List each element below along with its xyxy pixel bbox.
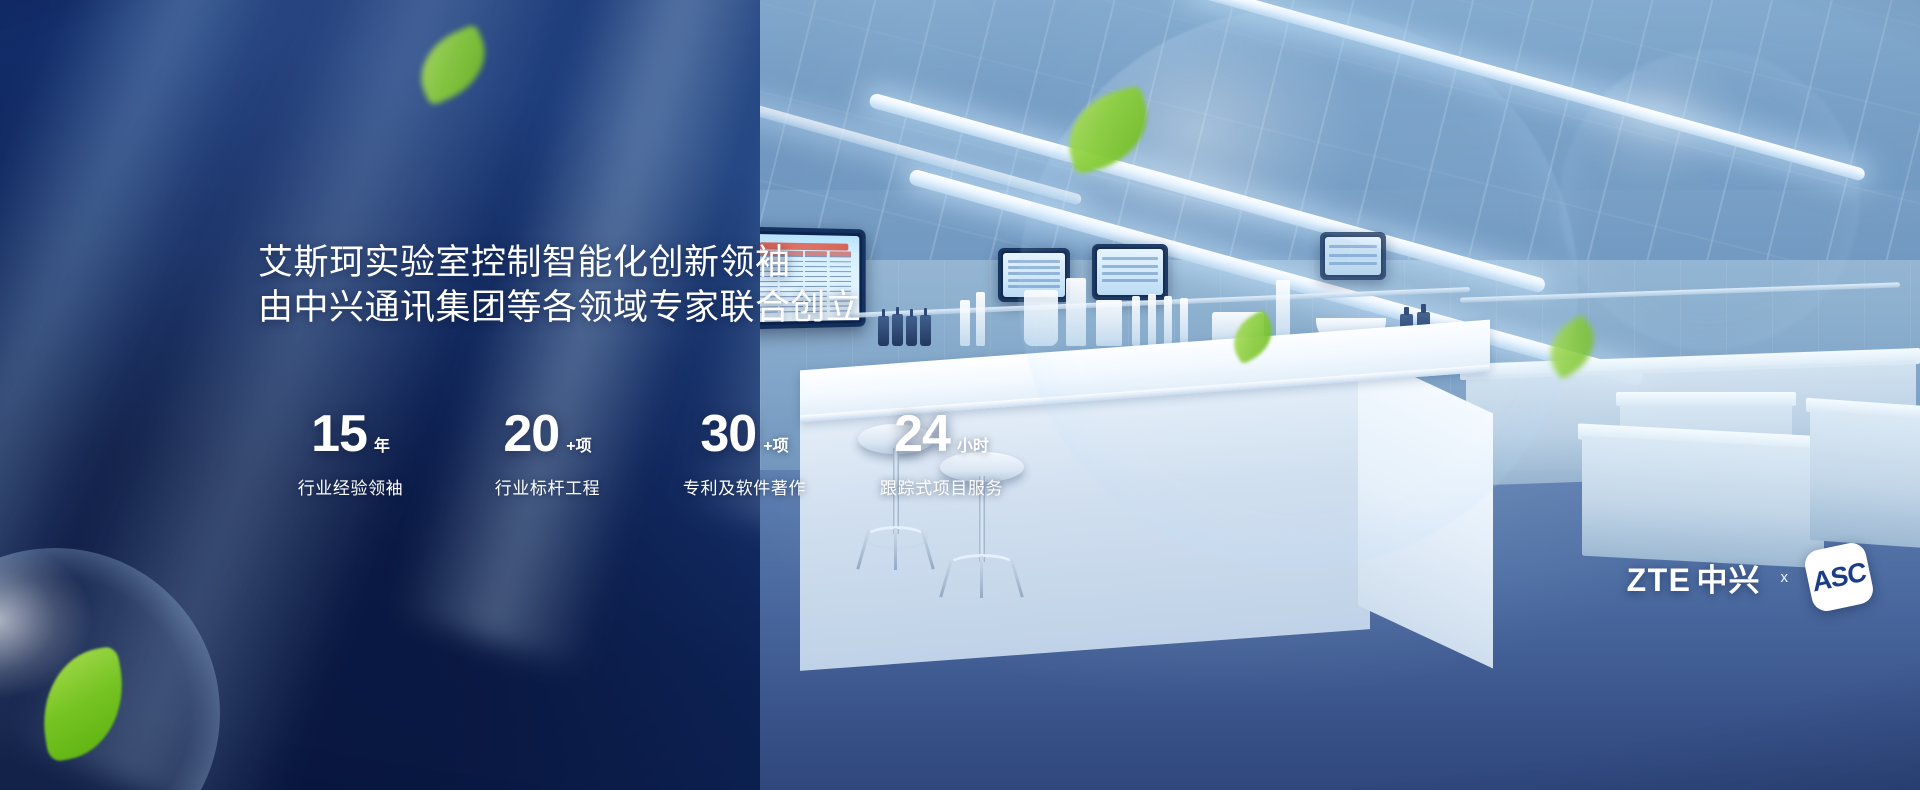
stat-label: 专利及软件著作	[646, 474, 843, 499]
stat-item: 15 年 行业经验领袖	[252, 408, 449, 499]
stat-label: 跟踪式项目服务	[843, 474, 1040, 499]
zte-logo: ZTE 中兴	[1627, 555, 1761, 600]
stat-number: 24	[894, 408, 950, 460]
stat-number-row: 30 +项	[646, 408, 843, 460]
stat-label: 行业经验领袖	[252, 474, 449, 499]
headline-line-1: 艾斯珂实验室控制智能化创新领袖	[258, 243, 791, 282]
headline-line-2: 由中兴通讯集团等各领域专家联合创立	[258, 285, 978, 330]
zte-logo-chinese: 中兴	[1697, 555, 1761, 600]
stat-number: 15	[311, 408, 367, 460]
logo-separator: x	[1781, 569, 1789, 586]
headline: 艾斯珂实验室控制智能化创新领袖 由中兴通讯集团等各领域专家联合创立	[258, 240, 978, 330]
zte-logo-latin: ZTE	[1627, 562, 1692, 599]
asc-logo: ASC	[1802, 540, 1876, 614]
stat-item: 20 +项 行业标杆工程	[449, 408, 646, 499]
stat-label: 行业标杆工程	[449, 474, 646, 499]
stat-unit: 年	[374, 432, 390, 456]
hero-banner: 艾斯珂实验室控制智能化创新领袖 由中兴通讯集团等各领域专家联合创立 15 年 行…	[0, 0, 1920, 790]
stat-item: 24 小时 跟踪式项目服务	[843, 408, 1040, 499]
asc-logo-text: ASC	[1811, 556, 1867, 598]
stat-unit: 小时	[957, 432, 989, 456]
stat-number: 30	[700, 408, 756, 460]
stat-number-row: 15 年	[252, 408, 449, 460]
logo-lockup: ZTE 中兴 x ASC	[1627, 546, 1870, 608]
stat-unit: +项	[763, 432, 788, 456]
headline-block: 艾斯珂实验室控制智能化创新领袖 由中兴通讯集团等各领域专家联合创立	[258, 240, 978, 330]
stat-number-row: 20 +项	[449, 408, 646, 460]
stats-row: 15 年 行业经验领袖 20 +项 行业标杆工程 30 +项 专利及软件著作 2…	[252, 408, 1040, 499]
vignette	[0, 0, 1920, 790]
stat-unit: +项	[566, 432, 591, 456]
stat-number-row: 24 小时	[843, 408, 1040, 460]
stat-number: 20	[503, 408, 559, 460]
stat-item: 30 +项 专利及软件著作	[646, 408, 843, 499]
